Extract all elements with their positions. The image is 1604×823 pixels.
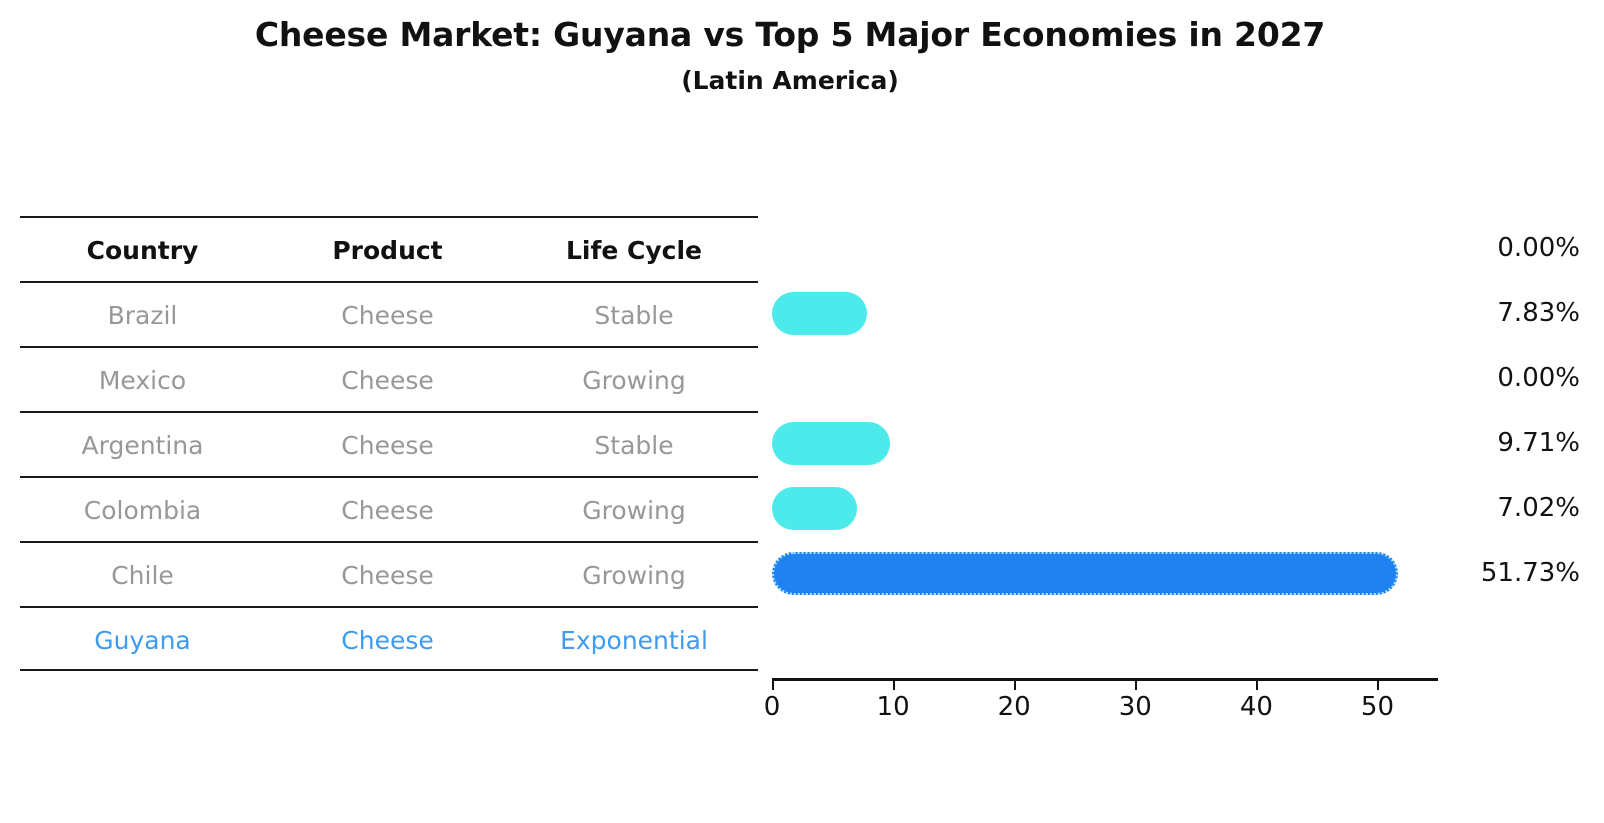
cell-country: Chile xyxy=(20,543,265,608)
cell-product: Cheese xyxy=(265,543,510,608)
x-axis-tick xyxy=(1377,678,1379,690)
bar-value-label: 0.00% xyxy=(1440,346,1580,411)
cell-life-cycle: Stable xyxy=(510,283,758,348)
bar-row: 0.00% xyxy=(772,346,1584,411)
bar-value-label: 7.83% xyxy=(1440,281,1580,346)
bar-row: 0.00% xyxy=(772,216,1584,281)
x-axis-tick-label: 20 xyxy=(984,692,1044,722)
x-axis: 01020304050 xyxy=(772,672,1442,732)
cell-product: Cheese xyxy=(265,413,510,478)
bar-row: 7.83% xyxy=(772,281,1584,346)
bar-chile xyxy=(772,487,857,530)
bar-value-label: 9.71% xyxy=(1440,411,1580,476)
x-axis-tick-label: 30 xyxy=(1105,692,1165,722)
cell-product: Cheese xyxy=(265,348,510,413)
cell-life-cycle: Growing xyxy=(510,348,758,413)
cell-country: Brazil xyxy=(20,283,265,348)
cell-country: Guyana xyxy=(20,608,265,673)
column-header-product: Product xyxy=(265,218,510,283)
table-row: Argentina Cheese Stable xyxy=(20,411,758,476)
column-header-country: Country xyxy=(20,218,265,283)
cell-life-cycle: Exponential xyxy=(510,608,758,673)
x-axis-tick-label: 10 xyxy=(863,692,923,722)
bar-value-label: 7.02% xyxy=(1440,476,1580,541)
bar-mexico xyxy=(772,292,867,335)
cell-country: Colombia xyxy=(20,478,265,543)
x-axis-tick xyxy=(893,678,895,690)
x-axis-tick-label: 50 xyxy=(1347,692,1407,722)
x-axis-tick xyxy=(1135,678,1137,690)
bar-row: 7.02% xyxy=(772,476,1584,541)
bar-row-highlighted: 51.73% xyxy=(772,541,1584,606)
table-header-row: Country Product Life Cycle xyxy=(20,216,758,281)
x-axis-tick xyxy=(1256,678,1258,690)
table-row-highlighted: Guyana Cheese Exponential xyxy=(20,606,758,671)
bar-value-label: 51.73% xyxy=(1440,541,1580,606)
x-axis-tick-label: 0 xyxy=(742,692,802,722)
table-row: Chile Cheese Growing xyxy=(20,541,758,606)
page-subtitle: (Latin America) xyxy=(0,64,1580,98)
table-row: Colombia Cheese Growing xyxy=(20,476,758,541)
bar-value-label: 0.00% xyxy=(1440,216,1580,281)
bar-chart: 0.00% 7.83% 0.00% 9.71% 7.02% 51.73% xyxy=(772,216,1584,736)
column-header-life-cycle: Life Cycle xyxy=(510,218,758,283)
cell-product: Cheese xyxy=(265,608,510,673)
cell-country: Mexico xyxy=(20,348,265,413)
cell-country: Argentina xyxy=(20,413,265,478)
cell-life-cycle: Growing xyxy=(510,543,758,608)
cell-product: Cheese xyxy=(265,478,510,543)
x-axis-tick xyxy=(772,678,774,690)
x-axis-line xyxy=(772,678,1438,681)
cell-life-cycle: Growing xyxy=(510,478,758,543)
title-block: Cheese Market: Guyana vs Top 5 Major Eco… xyxy=(0,14,1580,98)
x-axis-tick-label: 40 xyxy=(1226,692,1286,722)
bar-colombia xyxy=(772,422,890,465)
x-axis-tick xyxy=(1014,678,1016,690)
table-row: Brazil Cheese Stable xyxy=(20,281,758,346)
country-table: Country Product Life Cycle Brazil Cheese… xyxy=(20,216,758,671)
table-row: Mexico Cheese Growing xyxy=(20,346,758,411)
cell-product: Cheese xyxy=(265,283,510,348)
bar-guyana xyxy=(772,552,1398,595)
cell-life-cycle: Stable xyxy=(510,413,758,478)
bar-row: 9.71% xyxy=(772,411,1584,476)
page-title: Cheese Market: Guyana vs Top 5 Major Eco… xyxy=(0,14,1580,56)
